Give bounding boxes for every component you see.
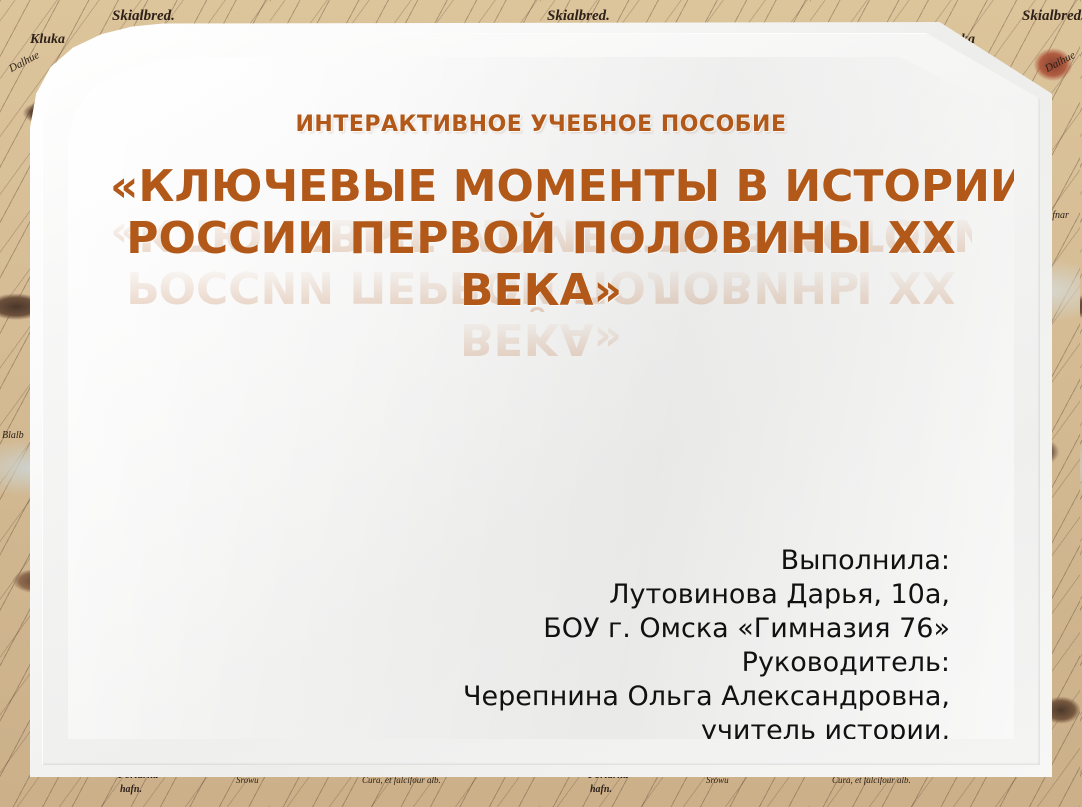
credits-line: Руководитель: xyxy=(463,646,950,680)
title-line-2: РОССИИ ПЕРВОЙ ПОЛОВИНЫ ХХ xyxy=(110,213,972,265)
credits-block: Выполнила: Лутовинова Дарья, 10а, БОУ г.… xyxy=(463,544,950,782)
presentation-slide: Skialbred. Skialbred. Skialbred. Kluka K… xyxy=(0,0,1082,807)
title-line-1: «КЛЮЧЕВЫЕ МОМЕНТЫ В ИСТОРИИ xyxy=(110,161,972,213)
credits-line: Лутовинова Дарья, 10а, xyxy=(463,578,950,612)
credits-line: БОУ г. Омска «Гимназия 76» xyxy=(463,612,950,646)
credits-line: Черепнина Ольга Александровна, xyxy=(463,680,950,714)
content-panel-frame: ИНТЕРАКТИВНОЕ УЧЕБНОЕ ПОСОБИЕ «КЛЮЧЕВЫЕ … xyxy=(30,22,1052,777)
slide-eyebrow: ИНТЕРАКТИВНОЕ УЧЕБНОЕ ПОСОБИЕ xyxy=(68,112,1014,137)
credits-line: учитель истории, xyxy=(463,714,950,748)
credits-line: БОУ г. Омска «Гимназия 76» xyxy=(463,748,950,782)
page-title: «КЛЮЧЕВЫЕ МОМЕНТЫ В ИСТОРИИ РОССИИ ПЕРВО… xyxy=(110,161,972,317)
content-panel-bevel: ИНТЕРАКТИВНОЕ УЧЕБНОЕ ПОСОБИЕ «КЛЮЧЕВЫЕ … xyxy=(42,33,1040,765)
slide-content: ИНТЕРАКТИВНОЕ УЧЕБНОЕ ПОСОБИЕ «КЛЮЧЕВЫЕ … xyxy=(68,57,1014,739)
credits-line: Выполнила: xyxy=(463,544,950,578)
title-line-3: ВЕКА» xyxy=(110,265,972,317)
content-panel-face: ИНТЕРАКТИВНОЕ УЧЕБНОЕ ПОСОБИЕ «КЛЮЧЕВЫЕ … xyxy=(68,57,1014,739)
